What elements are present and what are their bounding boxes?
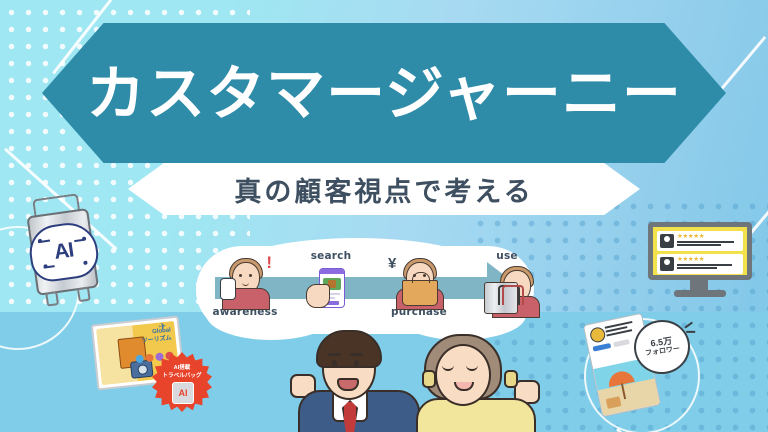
hand-icon [306,284,330,308]
chair-icon [606,396,622,409]
ai-suitcase-icon: AI [11,196,113,311]
yen-accent: ¥ [388,256,396,271]
person-suitcase-icon [478,264,536,314]
businesswoman-character [408,334,536,432]
journey-stage-search[interactable]: search [294,264,368,314]
message-button [613,339,630,347]
shopping-bag-icon [402,280,438,306]
follower-unit: フォロワー [645,346,681,359]
badge-bag-mark: AI [172,382,194,404]
review-monitor-icon: ★★★★★ ★★★★★ [648,222,760,302]
monitor-screen: ★★★★★ ★★★★★ [648,222,752,280]
monitor-stand [690,280,708,290]
journey-stage-label: search [294,250,368,262]
badge-line-1: AI搭載 [174,365,191,371]
review-row: ★★★★★ [657,254,743,274]
avatar [660,234,674,248]
badge-line-2: トラベルバッグ [162,373,201,379]
person-phone-search-icon [302,264,360,314]
subtitle-banner: 真の顧客視点で考える [128,163,640,215]
profile-avatar [589,326,607,344]
page-subtitle: 真の顧客視点で考える [234,170,533,209]
title-banner: カスタマージャーニー [42,23,726,163]
journey-stage-purchase[interactable]: ¥ purchase [382,256,456,318]
umbrella-icon [607,369,635,387]
journey-stage-label: use [470,250,544,262]
ai-label: AI [28,222,99,282]
exclamation-accent: ! [266,254,272,271]
earring [422,370,436,388]
suitcase-icon [484,282,518,314]
journey-stage-awareness[interactable]: ! awareness [208,256,282,318]
brochure-title-jp: ツーリズム [141,335,171,344]
small-phone-icon [220,278,236,300]
follow-button [593,343,612,352]
earring [504,370,518,388]
slide-canvas: カスタマージャーニー 真の顧客視点で考える ! awareness search [0,0,768,432]
page-title: カスタマージャーニー [86,64,682,123]
businessman-character [292,330,422,432]
review-row: ★★★★★ [657,231,743,251]
avatar [660,257,674,271]
journey-stage-use[interactable]: use [470,264,544,314]
person-shopping-bag-icon: ¥ [390,256,448,306]
ai-travel-bag-badge: AI搭載 トラベルバッグ AI [152,352,212,412]
monitor-base [674,290,726,297]
person-surprised-icon: ! [216,256,274,306]
